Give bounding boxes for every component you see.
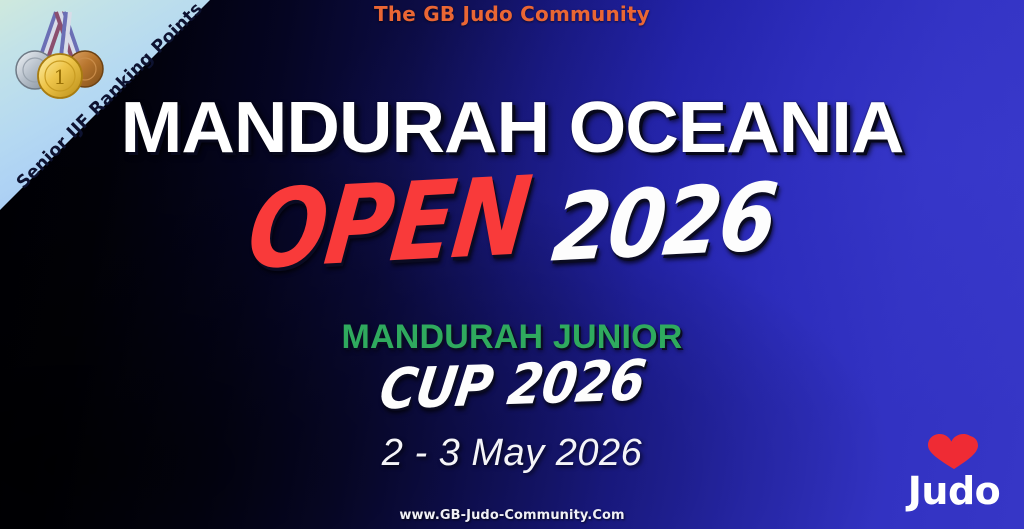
brand-word: Judo — [898, 471, 1010, 511]
heart-icon — [898, 433, 1010, 471]
open-year: 2026 — [548, 172, 780, 277]
cup-label: CUP 2026 — [376, 352, 648, 417]
event-dates: 2 - 3 May 2026 — [0, 432, 1024, 475]
event-poster: Senior IJF Ranking Points — [0, 0, 1024, 529]
cup-year-line: CUP 2026 — [0, 360, 1024, 410]
open-label: OPEN — [243, 163, 534, 286]
judo-brand-logo: Judo — [898, 433, 1010, 519]
website-url: www.GB-Judo-Community.Com — [0, 508, 1024, 523]
medals-icon: 1 — [8, 6, 112, 100]
junior-event-title: MANDURAH JUNIOR — [0, 318, 1024, 357]
svg-text:1: 1 — [54, 65, 67, 89]
